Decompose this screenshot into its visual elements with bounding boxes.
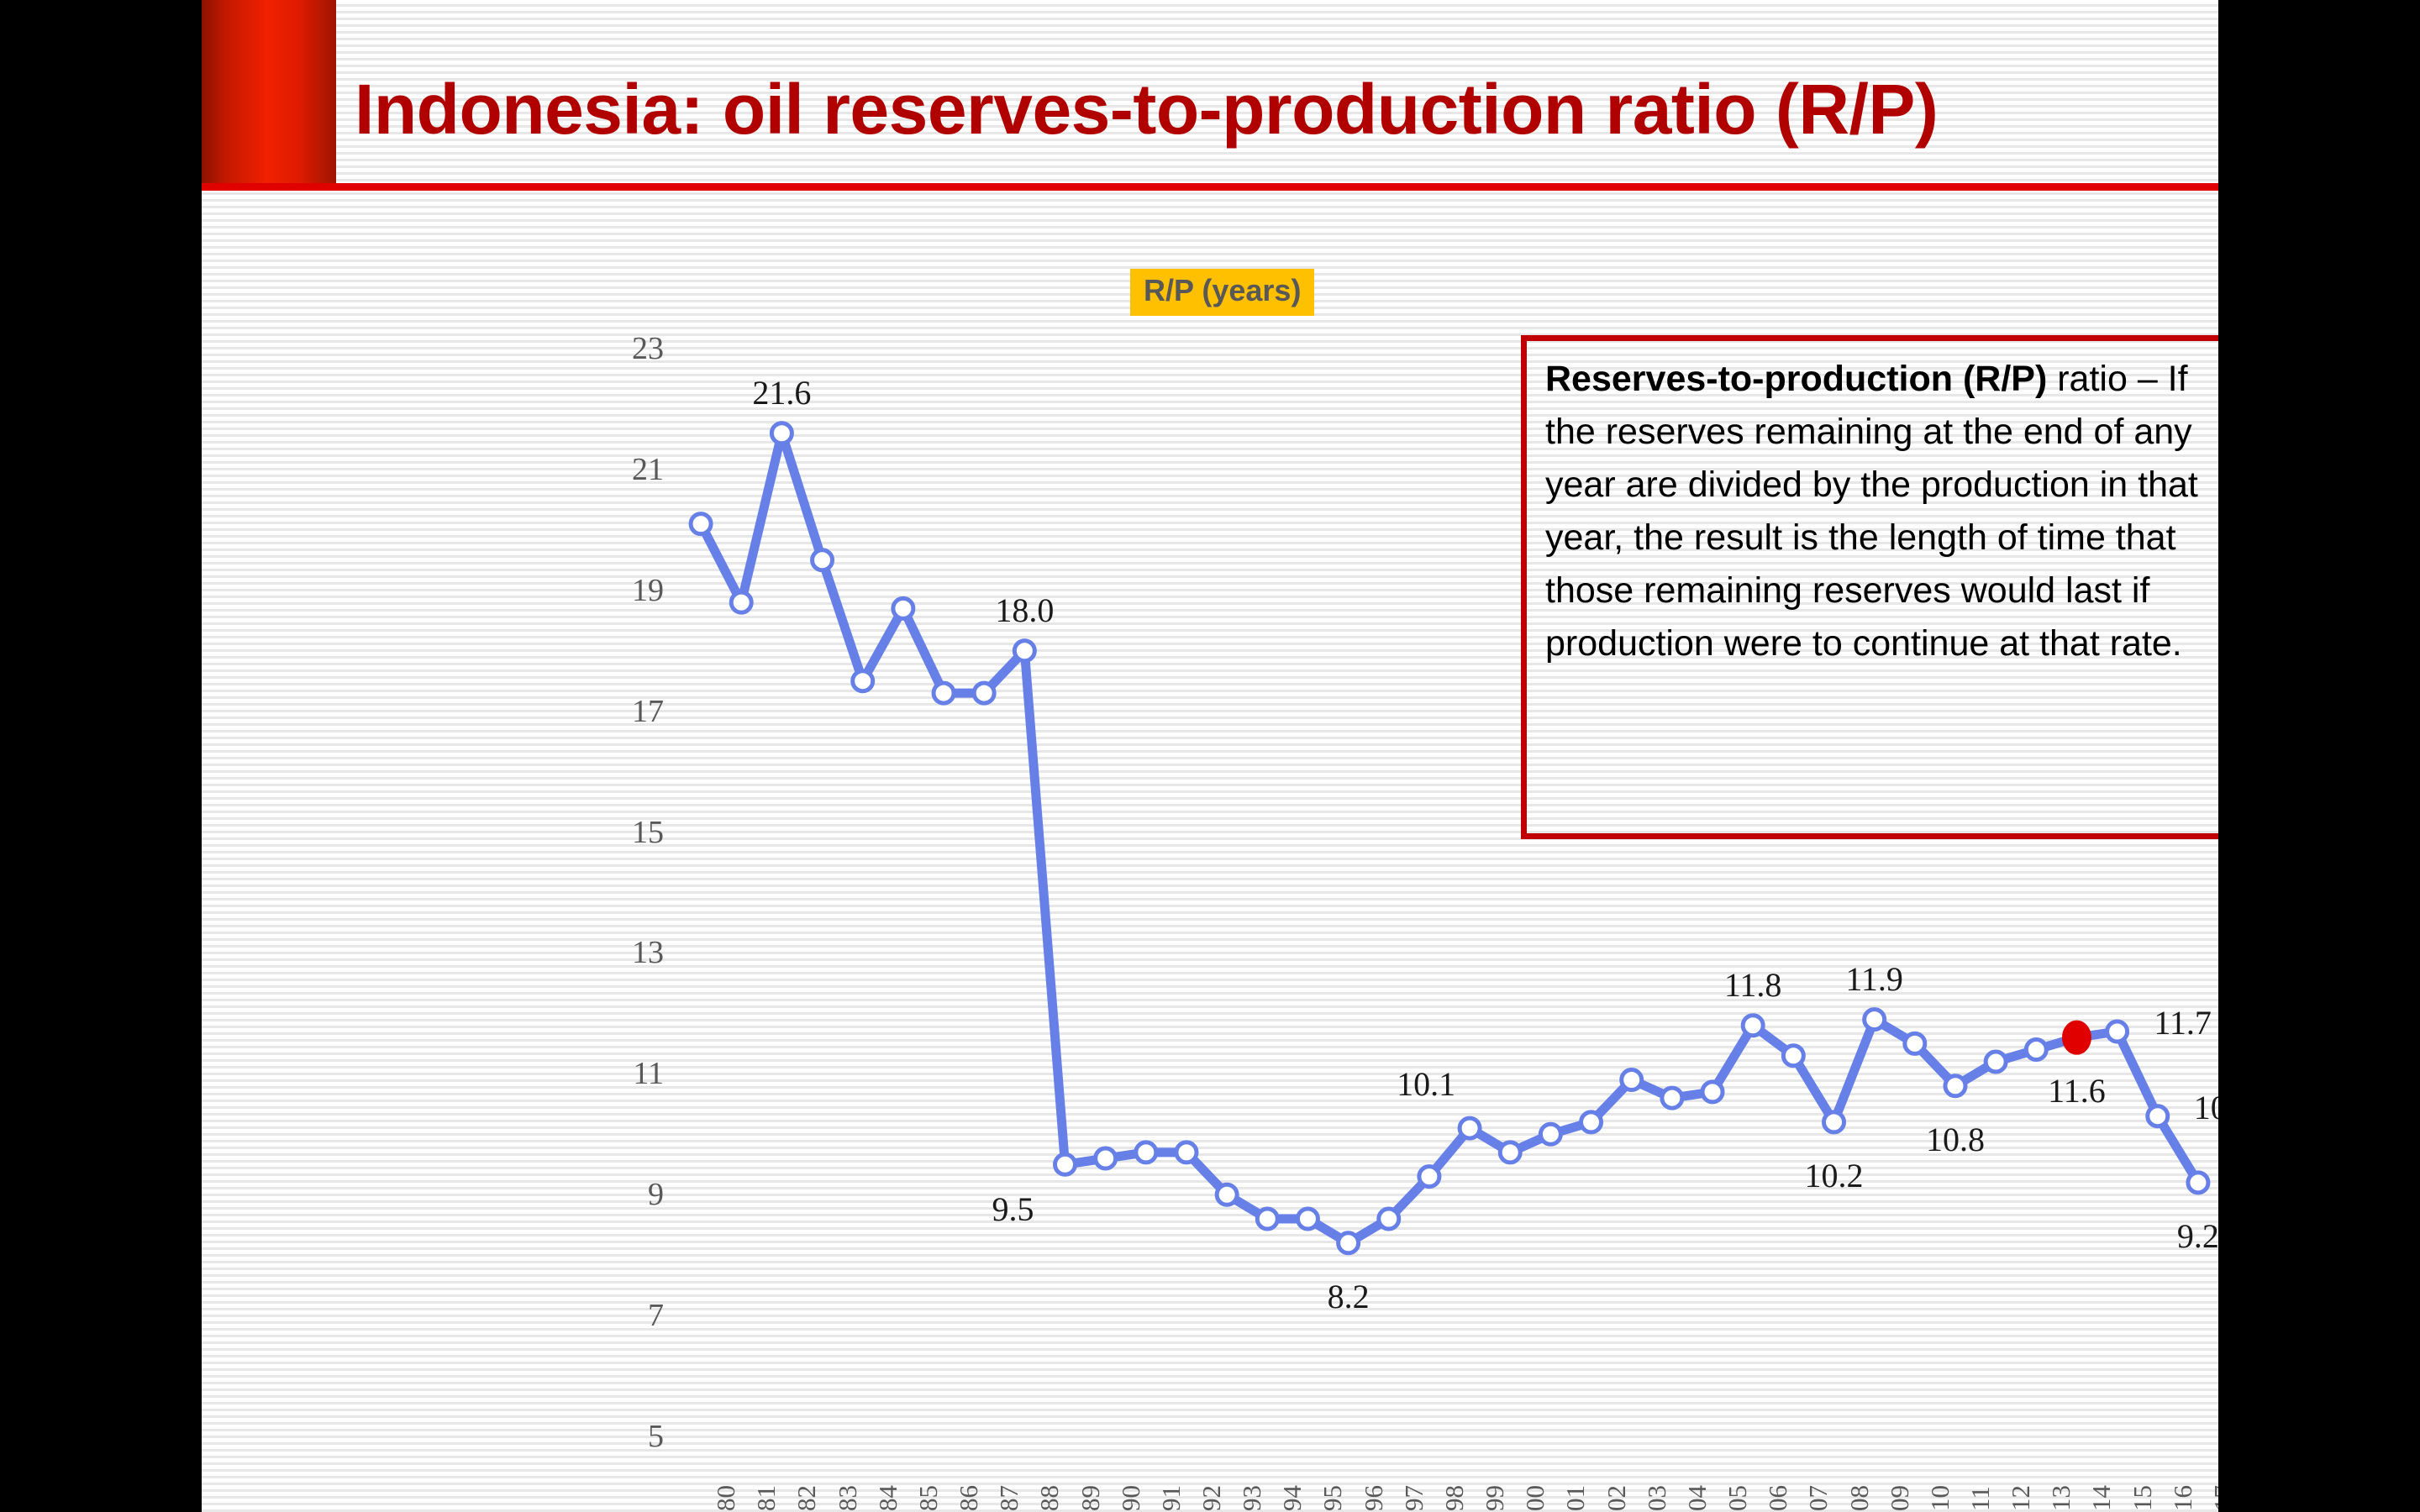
x-axis-tick-label: 1993 [1237, 1485, 1267, 1512]
data-point[interactable] [1217, 1184, 1237, 1205]
x-axis-tick-label: 2012 [2006, 1485, 2036, 1512]
x-axis-tick-label: 1994 [1277, 1485, 1307, 1512]
x-axis-tick-label: 2000 [1520, 1485, 1550, 1512]
data-point[interactable] [2107, 1021, 2128, 1042]
y-axis-tick-label: 5 [563, 1418, 664, 1455]
y-axis-tick-label: 11 [563, 1055, 664, 1092]
data-point[interactable] [771, 423, 792, 444]
data-value-label: 11.9 [1845, 959, 1903, 999]
data-point[interactable] [2188, 1173, 2208, 1193]
x-axis-tick-label: 2011 [1965, 1486, 1996, 1512]
data-point-highlight[interactable] [2062, 1021, 2091, 1054]
data-point[interactable] [1783, 1046, 1803, 1066]
line-chart: R/P (years) 23211917151311975 1980198119… [202, 191, 2218, 1512]
x-axis-tick-label: 2002 [1602, 1485, 1632, 1512]
data-point[interactable] [1339, 1233, 1359, 1253]
x-axis-tick-label: 1992 [1197, 1485, 1227, 1512]
x-axis-tick-label: 1980 [711, 1485, 741, 1512]
y-axis-tick-label: 17 [563, 693, 664, 730]
chart-legend-badge: R/P (years) [1130, 269, 1314, 316]
y-axis-tick-label: 13 [563, 934, 664, 971]
data-point[interactable] [1136, 1142, 1156, 1163]
x-axis-tick-label: 1983 [833, 1485, 863, 1512]
page-title: Indonesia: oil reserves-to-production ra… [355, 59, 2195, 160]
x-axis-tick-label: 2014 [2086, 1485, 2117, 1512]
data-point[interactable] [1702, 1082, 1723, 1102]
x-axis-tick-label: 2016 [2168, 1485, 2198, 1512]
x-axis-tick-label: 1982 [792, 1485, 822, 1512]
definition-text: Reserves-to-production (R/P) ratio – If … [1545, 353, 2217, 670]
x-axis-tick-label: 2003 [1642, 1485, 1672, 1512]
data-point[interactable] [1622, 1070, 1642, 1090]
data-point[interactable] [1824, 1112, 1844, 1132]
data-value-label: 10.3 [2194, 1088, 2218, 1127]
title-underline-rule [202, 183, 2218, 191]
definition-lead: Reserves-to-production (R/P) [1545, 359, 2047, 399]
x-axis-tick-label: 1996 [1359, 1485, 1389, 1512]
x-axis-tick-label: 2013 [2046, 1485, 2076, 1512]
data-point[interactable] [1176, 1142, 1197, 1163]
x-axis-tick-label: 1991 [1156, 1485, 1186, 1512]
data-point[interactable] [731, 592, 751, 612]
x-axis-tick-label: 2010 [1925, 1485, 1955, 1512]
x-axis-tick-label: 1997 [1399, 1485, 1429, 1512]
data-point[interactable] [893, 598, 913, 618]
data-point[interactable] [1297, 1209, 1318, 1229]
x-axis-tick-label: 1984 [873, 1485, 903, 1512]
x-axis-tick-label: 2006 [1763, 1485, 1793, 1512]
data-point[interactable] [2026, 1040, 2046, 1060]
definition-callout-box: Reserves-to-production (R/P) ratio – If … [1521, 335, 2218, 839]
data-point[interactable] [1865, 1010, 1885, 1030]
data-point[interactable] [1500, 1142, 1520, 1163]
data-value-label: 11.8 [1724, 965, 1782, 1005]
decorative-red-gradient-bar [202, 0, 336, 183]
data-point[interactable] [691, 514, 711, 534]
data-point[interactable] [1945, 1076, 1965, 1096]
right-letterbox [2218, 0, 2420, 1512]
x-axis-tick-label: 2001 [1560, 1485, 1591, 1512]
y-axis-tick-label: 23 [563, 330, 664, 367]
data-point[interactable] [813, 550, 833, 570]
x-axis-tick-label: 2017 [2208, 1485, 2218, 1512]
x-axis-tick-label: 1989 [1076, 1485, 1106, 1512]
data-point[interactable] [1419, 1167, 1439, 1187]
y-axis-tick-label: 7 [563, 1297, 664, 1334]
data-point[interactable] [1743, 1016, 1763, 1036]
x-axis-tick-label: 2009 [1885, 1485, 1915, 1512]
data-value-label: 10.8 [1926, 1120, 1985, 1159]
data-point[interactable] [1096, 1148, 1116, 1168]
data-point[interactable] [934, 683, 954, 703]
data-point[interactable] [974, 683, 994, 703]
data-value-label: 11.7 [2154, 1003, 2212, 1042]
data-point[interactable] [1379, 1209, 1399, 1229]
data-value-label: 9.5 [992, 1189, 1034, 1229]
data-point[interactable] [1460, 1118, 1480, 1138]
x-axis-tick-label: 1981 [751, 1485, 781, 1512]
x-axis-tick-label: 1988 [1034, 1485, 1065, 1512]
data-point[interactable] [1055, 1154, 1076, 1174]
x-axis-tick-label: 1998 [1439, 1485, 1470, 1512]
data-point[interactable] [1986, 1052, 2006, 1072]
data-value-label: 10.1 [1397, 1064, 1455, 1104]
data-point[interactable] [1540, 1124, 1560, 1144]
x-axis-tick-label: 2005 [1723, 1485, 1753, 1512]
data-value-label: 10.2 [1805, 1156, 1864, 1195]
data-value-label: 11.6 [2048, 1071, 2106, 1110]
data-value-label: 8.2 [1328, 1277, 1370, 1316]
x-axis-tick-label: 1999 [1480, 1485, 1510, 1512]
y-axis-tick-label: 19 [563, 572, 664, 609]
x-axis-tick-label: 1995 [1318, 1485, 1348, 1512]
x-axis-tick-label: 1985 [913, 1485, 944, 1512]
definition-body: ratio – If the reserves remaining at the… [1545, 359, 2198, 664]
data-value-label: 18.0 [995, 591, 1054, 630]
data-point[interactable] [853, 671, 873, 691]
data-point[interactable] [1905, 1033, 1925, 1053]
x-axis-tick-label: 2007 [1803, 1485, 1833, 1512]
x-axis-tick-label: 1986 [954, 1485, 984, 1512]
x-axis-tick-label: 2008 [1844, 1485, 1875, 1512]
x-axis-tick-label: 1990 [1116, 1485, 1146, 1512]
data-point[interactable] [2148, 1106, 2168, 1126]
data-point[interactable] [1662, 1088, 1682, 1108]
x-axis-tick-label: 2004 [1682, 1485, 1712, 1512]
y-axis-tick-label: 9 [563, 1176, 664, 1213]
data-point[interactable] [1581, 1112, 1602, 1132]
data-point[interactable] [1014, 641, 1034, 661]
y-axis-tick-label: 21 [563, 451, 664, 488]
data-value-label: 9.2 [2177, 1216, 2218, 1256]
data-point[interactable] [1257, 1209, 1277, 1229]
data-value-label: 21.6 [752, 373, 811, 412]
x-axis-tick-label: 2015 [2128, 1485, 2158, 1512]
x-axis-tick-label: 1987 [994, 1485, 1024, 1512]
y-axis-tick-label: 15 [563, 814, 664, 851]
left-letterbox [0, 0, 202, 1512]
slide-canvas: Indonesia: oil reserves-to-production ra… [202, 0, 2218, 1512]
